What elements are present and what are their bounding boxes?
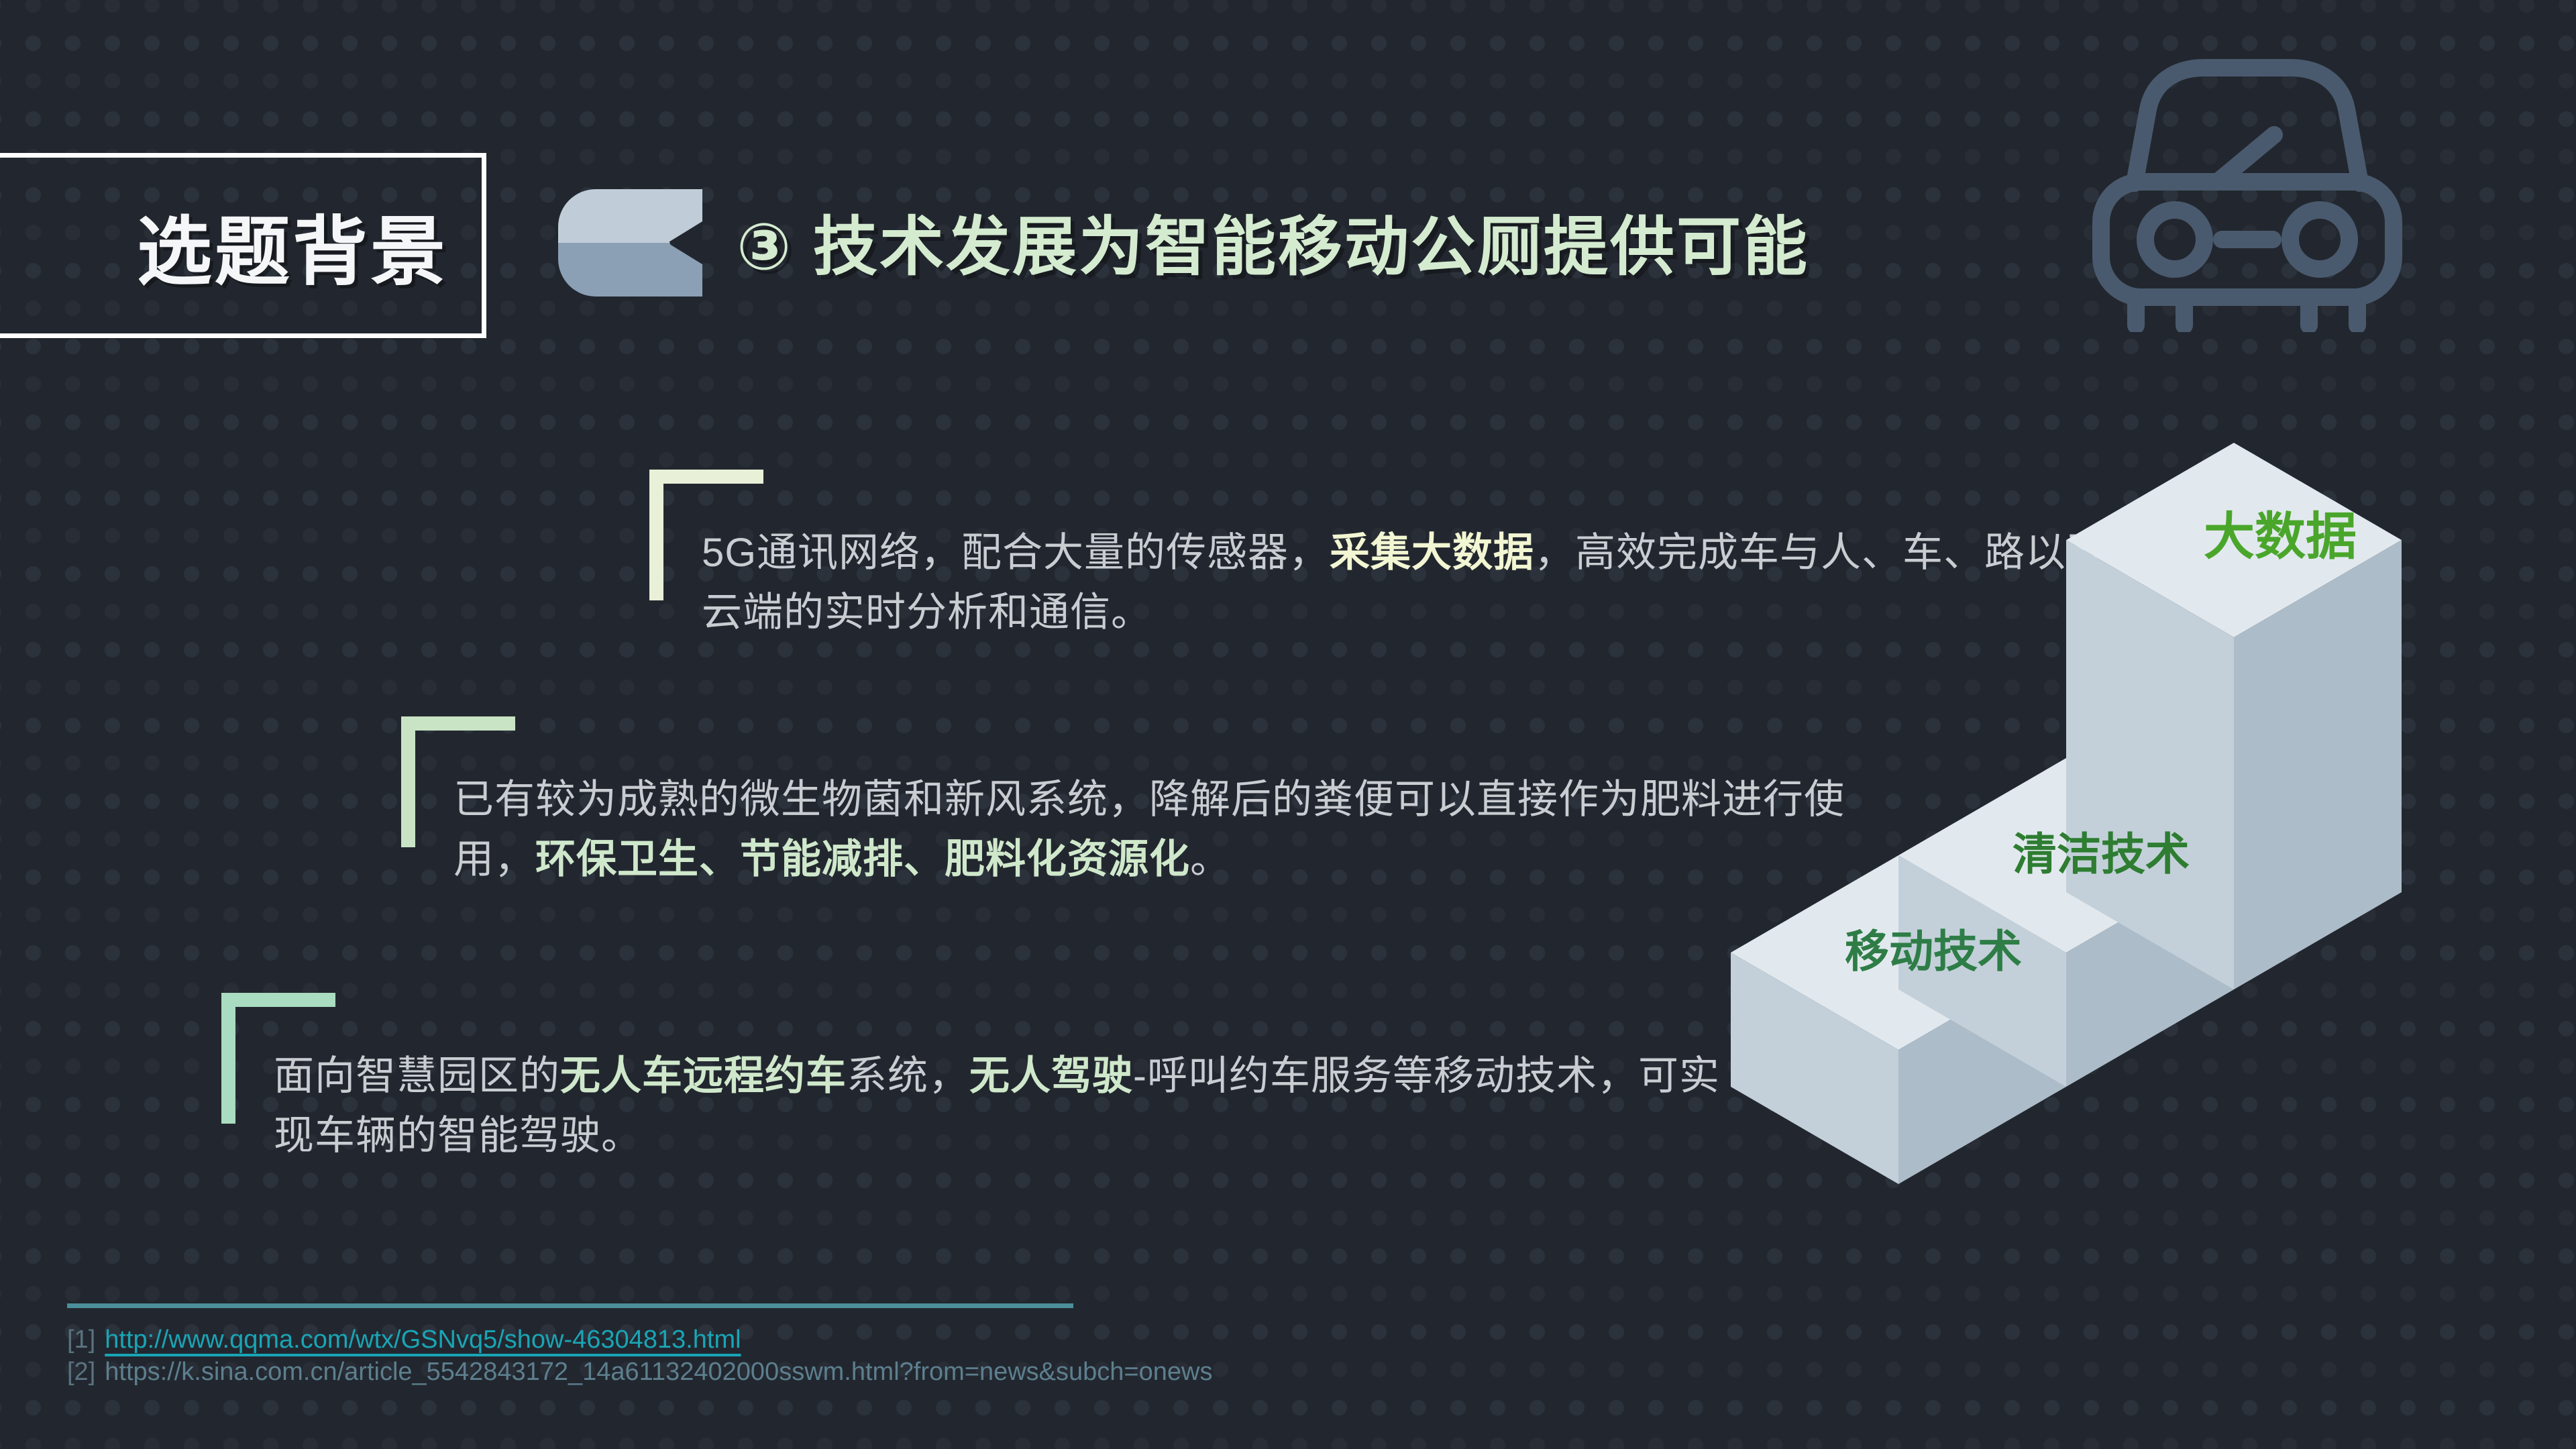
slide-root: 选题背景 ③ 技术发展为智能移动公厕提供可能 5G通讯网络，配合大量的传感器，采… (0, 0, 2576, 1449)
step-label-clean-tech: 清洁技术 (2012, 818, 2190, 883)
paragraph-text-3: 面向智慧园区的无人车远程约车系统，无人驾驶-呼叫约车服务等移动技术，可实现车辆的… (274, 1046, 1729, 1166)
paragraph-3-highlight-b: 无人驾驶 (969, 1053, 1133, 1098)
footnote-1-index: [1] (67, 1326, 95, 1354)
section-label-text: 选题背景 (0, 158, 482, 333)
section-label-box: 选题背景 (0, 153, 486, 338)
step-label-big-data: 大数据 (2204, 495, 2357, 569)
paragraph-1-highlight: 采集大数据 (1330, 530, 1534, 575)
paragraph-3-seg-0: 面向智慧园区的 (274, 1053, 560, 1098)
footnote-1: [1]http://www.qqma.com/wtx/GSNvq5/show-4… (67, 1326, 741, 1354)
paragraph-3-highlight-a: 无人车远程约车 (560, 1053, 847, 1098)
paragraph-2-seg-2: 。 (1190, 837, 1231, 881)
footnote-divider (67, 1303, 1073, 1308)
page-title: ③ 技术发展为智能移动公厕提供可能 (737, 195, 1809, 288)
brand-mark-icon (558, 189, 702, 297)
footnote-2-index: [2] (67, 1358, 95, 1386)
footnote-2-url[interactable]: https://k.sina.com.cn/article_5542843172… (105, 1358, 1212, 1386)
paragraph-3-seg-2: 系统， (847, 1053, 969, 1098)
footnote-2: [2]https://k.sina.com.cn/article_5542843… (67, 1358, 1212, 1387)
paragraph-2-highlight: 环保卫生、节能减排、肥料化资源化 (535, 837, 1190, 881)
step-label-mobile-tech: 移动技术 (1845, 916, 2022, 980)
paragraph-text-2: 已有较为成熟的微生物菌和新风系统，降解后的粪便可以直接作为肥料进行使用，环保卫生… (453, 770, 1902, 890)
footnote-1-link[interactable]: http://www.qqma.com/wtx/GSNvq5/show-4630… (105, 1326, 741, 1354)
paragraph-1-seg-0: 5G通讯网络，配合大量的传感器， (702, 530, 1330, 575)
isometric-staircase-graphic: 大数据 清洁技术 移动技术 (1731, 443, 2576, 1234)
car-front-icon (2073, 37, 2422, 332)
